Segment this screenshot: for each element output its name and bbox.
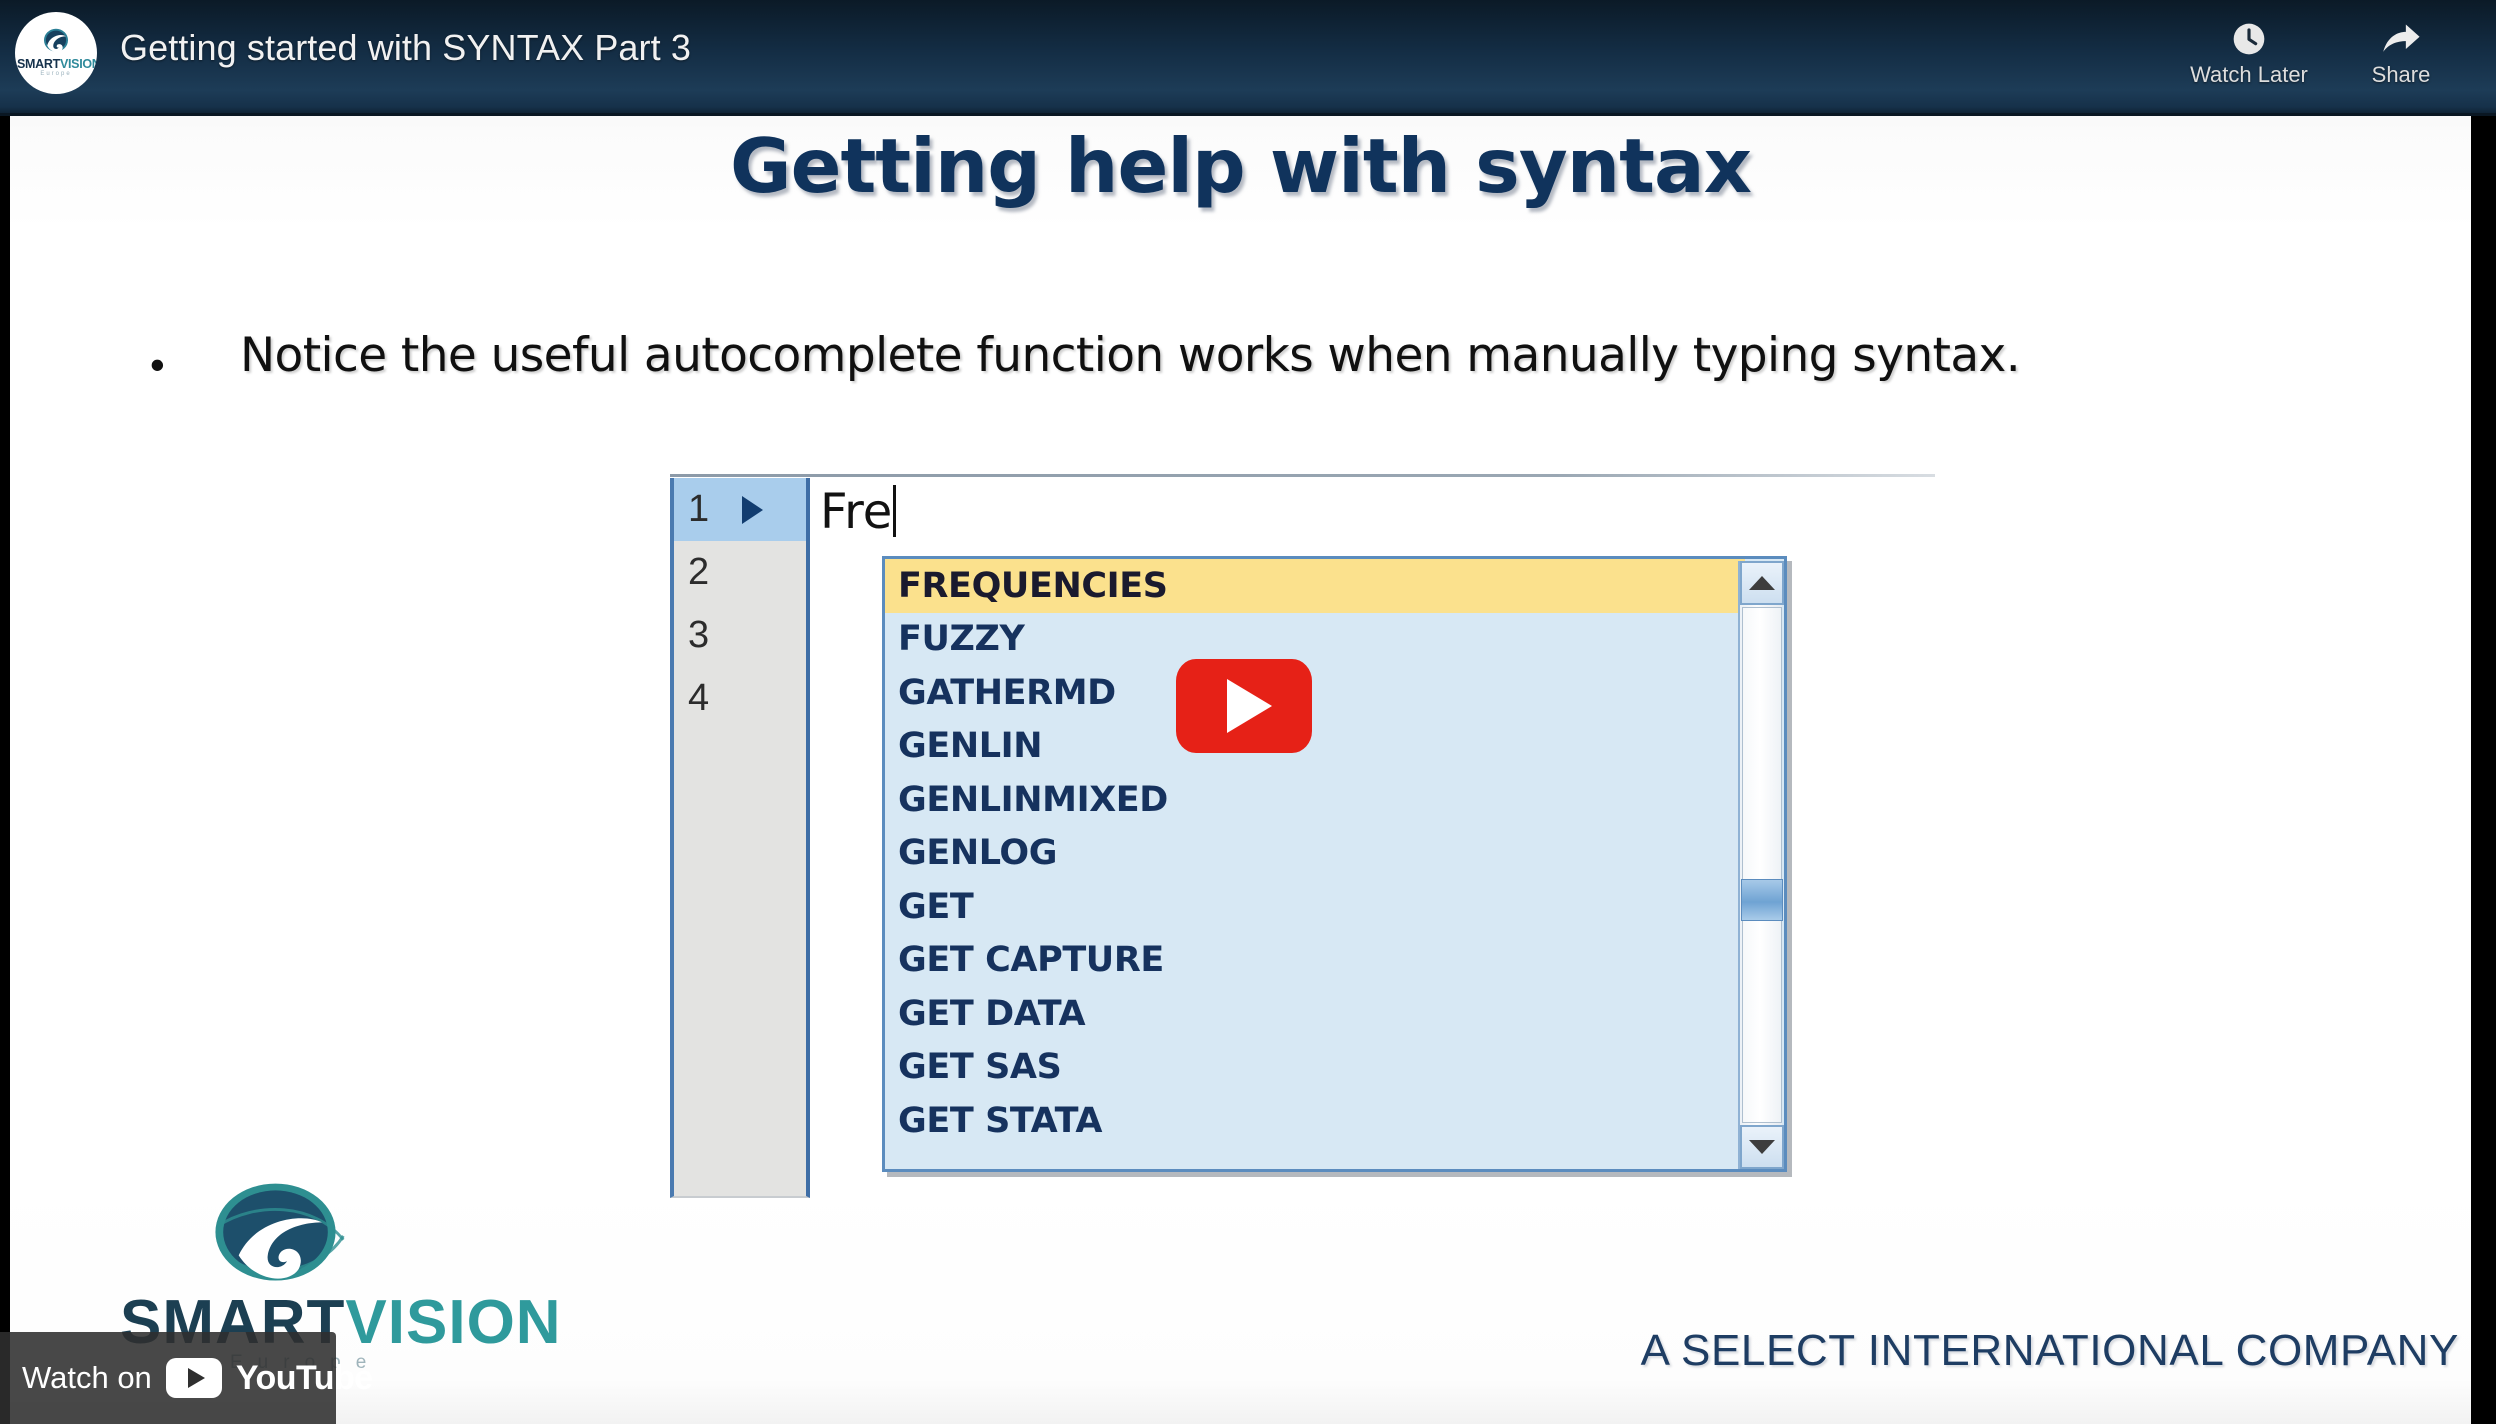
play-triangle-glyph — [1227, 679, 1272, 733]
watch-later-button[interactable]: Watch Later — [2174, 16, 2324, 88]
gutter-line-1[interactable]: 1 — [674, 478, 806, 541]
gutter-line-3[interactable]: 3 — [674, 604, 806, 667]
bullet-row: • Notice the useful autocomplete functio… — [150, 330, 2350, 386]
avatar-brand-first: SMART — [17, 57, 60, 71]
editor-top-divider — [670, 474, 1935, 477]
autocomplete-scrollbar[interactable] — [1738, 561, 1782, 1169]
scroll-down-arrow-icon[interactable] — [1740, 1125, 1784, 1169]
autocomplete-item[interactable]: GENLINMIXED — [885, 773, 1745, 827]
scroll-up-arrow-glyph — [1749, 576, 1775, 590]
youtube-brand-label: YouTube — [236, 1359, 373, 1398]
watermark-brand-second: VISION — [345, 1288, 561, 1357]
youtube-badge-triangle-glyph — [188, 1368, 205, 1388]
scrollbar-track[interactable] — [1742, 607, 1782, 1123]
gutter-line-4[interactable]: 4 — [674, 667, 806, 730]
autocomplete-item[interactable]: GET STATA — [885, 1094, 1745, 1148]
autocomplete-item[interactable]: GET SAS — [885, 1041, 1745, 1095]
gutter-line-number: 4 — [688, 677, 709, 720]
bullet-marker: • — [150, 344, 240, 386]
video-title[interactable]: Getting started with SYNTAX Part 3 — [120, 27, 691, 69]
autocomplete-item[interactable]: FREQUENCIES — [885, 559, 1745, 613]
youtube-player[interactable]: Getting help with syntax • Notice the us… — [0, 0, 2496, 1424]
slide-title: Getting help with syntax — [10, 122, 2471, 210]
watch-on-label: Watch on — [22, 1360, 152, 1396]
gutter-line-2[interactable]: 2 — [674, 541, 806, 604]
channel-avatar[interactable]: SMARTVISION Europe — [15, 12, 97, 94]
gutter-line-number: 3 — [688, 614, 709, 657]
avatar-brand-second: VISION — [60, 57, 97, 71]
autocomplete-item[interactable]: GENLOG — [885, 827, 1745, 881]
bullet-text: Notice the useful autocomplete function … — [240, 330, 2020, 383]
text-caret — [893, 485, 896, 537]
youtube-play-badge-icon — [166, 1358, 222, 1398]
share-arrow-icon — [2326, 16, 2476, 62]
autocomplete-item[interactable]: GET CAPTURE — [885, 934, 1745, 988]
watch-on-youtube-button[interactable]: Watch on YouTube — [0, 1332, 336, 1424]
run-marker-triangle-icon — [742, 496, 763, 524]
youtube-play-icon[interactable] — [1176, 659, 1312, 753]
avatar-brand-sub: Europe — [17, 71, 95, 77]
scroll-up-arrow-icon[interactable] — [1740, 561, 1784, 605]
smartvision-swirl-logo-icon — [198, 1174, 353, 1294]
gutter-line-number: 2 — [688, 551, 709, 594]
share-label: Share — [2326, 62, 2476, 88]
autocomplete-item[interactable]: GATHERMD — [885, 666, 1745, 720]
clock-icon — [2174, 16, 2324, 62]
syntax-editor-gutter: 1 2 3 4 — [670, 478, 810, 1198]
code-line-1: Fre — [820, 484, 896, 540]
scroll-down-arrow-glyph — [1749, 1140, 1775, 1154]
share-arrow-icon-glyph — [2380, 19, 2422, 59]
avatar-brand-text: SMARTVISION — [17, 58, 95, 71]
autocomplete-dropdown[interactable]: FREQUENCIES FUZZY GATHERMD GENLIN GENLIN… — [882, 556, 1787, 1172]
avatar-logo: SMARTVISION Europe — [17, 14, 95, 92]
code-line-1-text: Fre — [820, 484, 892, 540]
autocomplete-item[interactable]: GET DATA — [885, 987, 1745, 1041]
share-button[interactable]: Share — [2326, 16, 2476, 88]
smartvision-swirl-logo-icon — [39, 26, 73, 56]
gutter-line-number: 1 — [688, 488, 709, 531]
player-header-bar: SMARTVISION Europe Getting started with … — [0, 0, 2496, 116]
company-tagline: A SELECT INTERNATIONAL COMPANY — [1641, 1326, 2459, 1376]
autocomplete-item[interactable]: FUZZY — [885, 613, 1745, 667]
scrollbar-thumb[interactable] — [1741, 879, 1783, 921]
autocomplete-item[interactable]: GENLIN — [885, 720, 1745, 774]
watch-later-label: Watch Later — [2174, 62, 2324, 88]
autocomplete-item[interactable]: GET — [885, 880, 1745, 934]
autocomplete-list[interactable]: FREQUENCIES FUZZY GATHERMD GENLIN GENLIN… — [885, 559, 1745, 1169]
clock-icon-glyph — [2229, 19, 2269, 59]
